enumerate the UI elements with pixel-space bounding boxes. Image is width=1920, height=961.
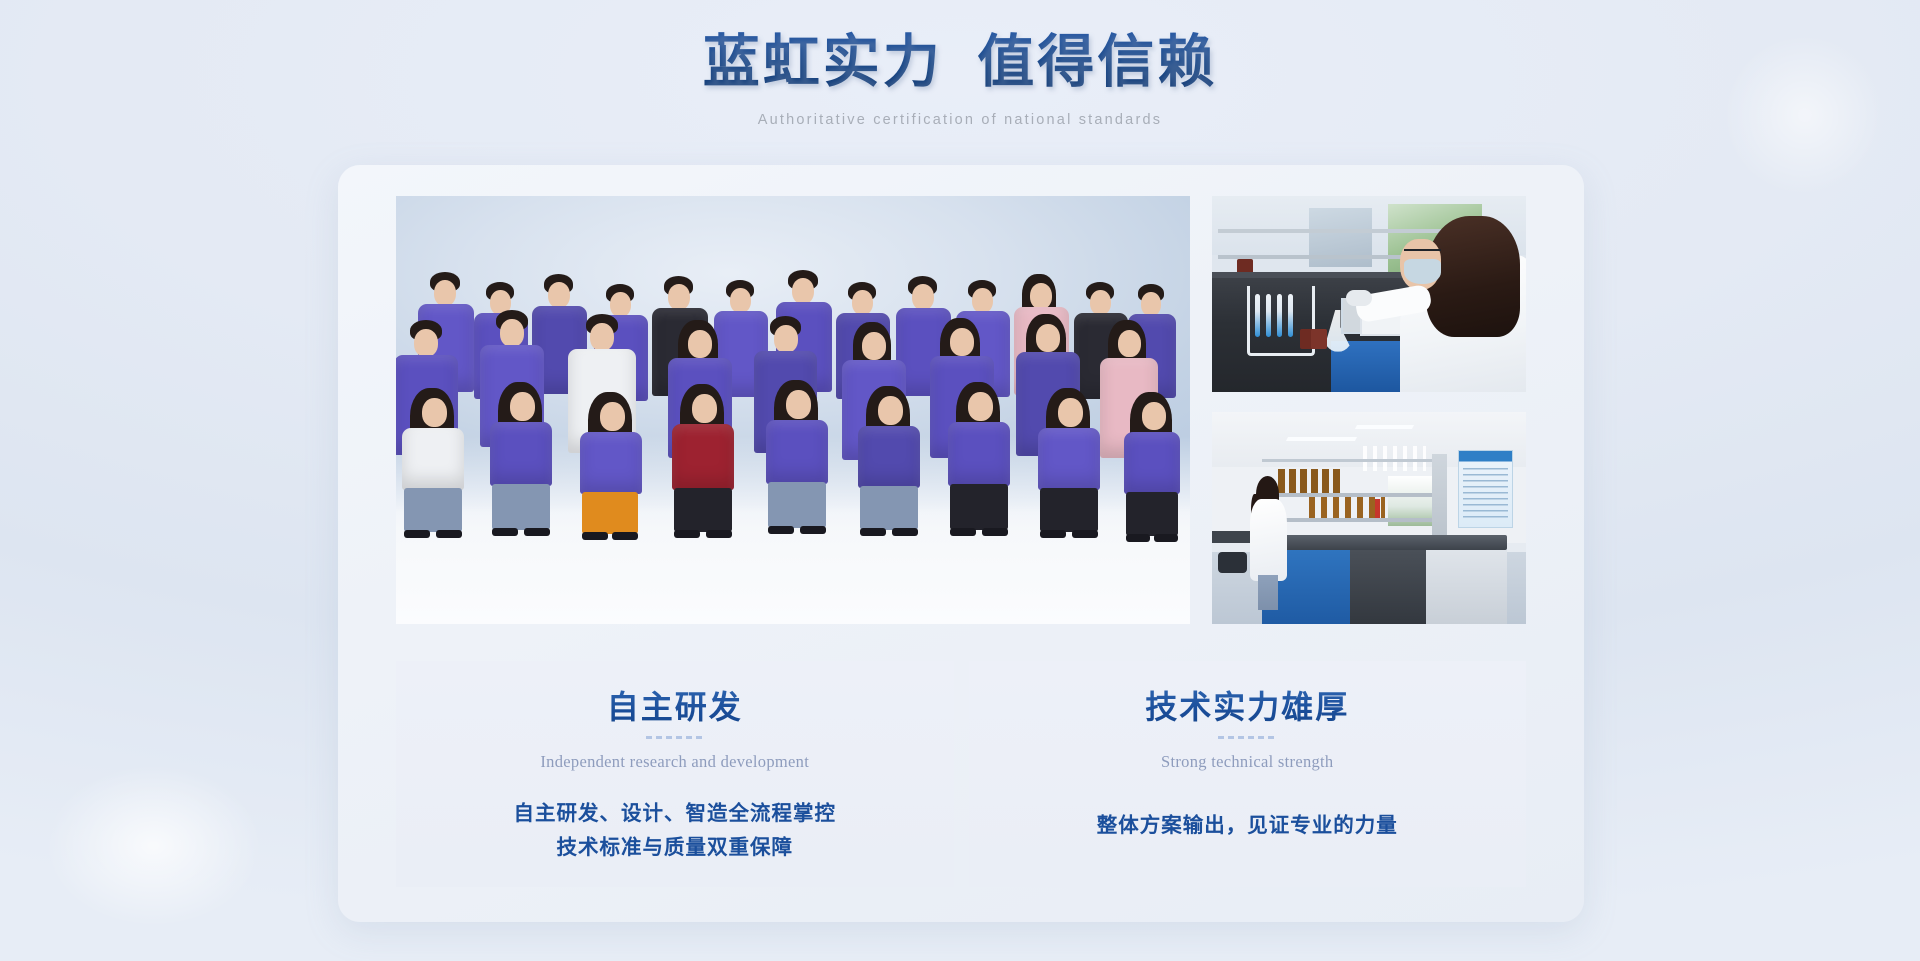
dashed-divider-icon [646, 736, 704, 739]
page-root: 蓝虹实力 值得信赖 Authoritative certification of… [0, 0, 1920, 961]
laboratory-room-scene [1212, 412, 1526, 624]
company-team-group-photo [396, 196, 1190, 624]
dashed-divider-icon [1218, 736, 1276, 739]
card-body: 自主研发、设计、智造全流程掌控 技术标准与质量双重保障 [396, 798, 954, 866]
team-photo-people [396, 196, 1190, 624]
card-body-line: 自主研发、设计、智造全流程掌控 [396, 798, 954, 832]
lab-technician-pipetting-photo [1212, 196, 1526, 392]
card-subtitle: Strong technical strength [969, 752, 1527, 772]
media-grid [396, 196, 1526, 624]
card-body: 整体方案输出，见证专业的力量 [969, 810, 1527, 844]
card-body-line: 技术标准与质量双重保障 [396, 832, 954, 866]
feature-card-independent-rd: 自主研发 Independent research and developmen… [396, 661, 954, 887]
card-title: 技术实力雄厚 [969, 689, 1527, 727]
feature-card-technical-strength: 技术实力雄厚 Strong technical strength 整体方案输出，… [969, 661, 1527, 887]
card-title: 自主研发 [396, 689, 954, 727]
lab-technician-scene [1212, 196, 1526, 392]
page-subtitle: Authoritative certification of national … [0, 112, 1920, 128]
content-panel: 自主研发 Independent research and developmen… [338, 165, 1584, 922]
card-body-line: 整体方案输出，见证专业的力量 [969, 810, 1527, 844]
header-block: 蓝虹实力 值得信赖 Authoritative certification of… [0, 28, 1920, 128]
page-title: 蓝虹实力 值得信赖 [0, 28, 1920, 98]
card-subtitle: Independent research and development [396, 752, 954, 772]
laboratory-room-photo [1212, 412, 1526, 624]
feature-cards: 自主研发 Independent research and developmen… [396, 661, 1526, 887]
